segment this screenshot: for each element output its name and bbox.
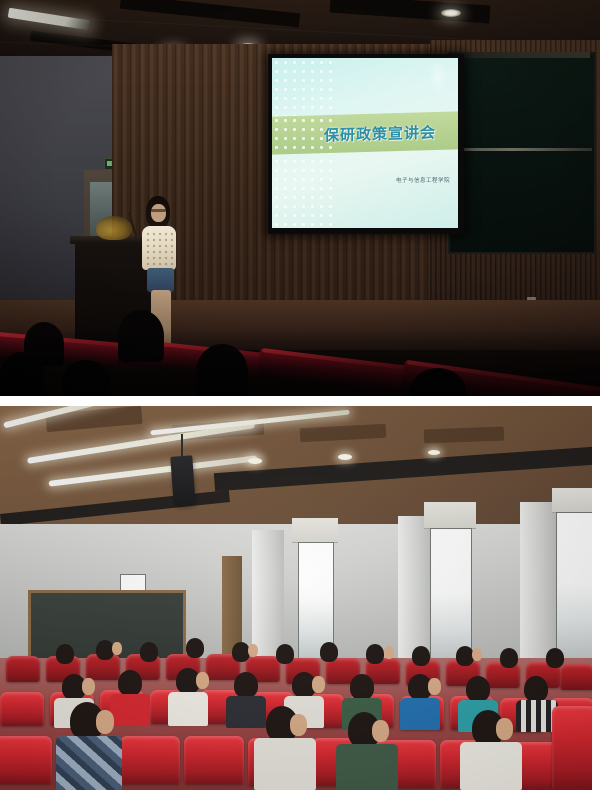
photo-separator bbox=[0, 396, 600, 406]
audience-seating-photo bbox=[0, 406, 592, 790]
lecture-hall-speaker-photo: 保研政策宣讲会 电子与信息工程学院 bbox=[0, 0, 600, 396]
photo-haze bbox=[0, 406, 592, 790]
photo-vignette bbox=[0, 0, 600, 396]
photo-collage: 保研政策宣讲会 电子与信息工程学院 bbox=[0, 0, 600, 800]
